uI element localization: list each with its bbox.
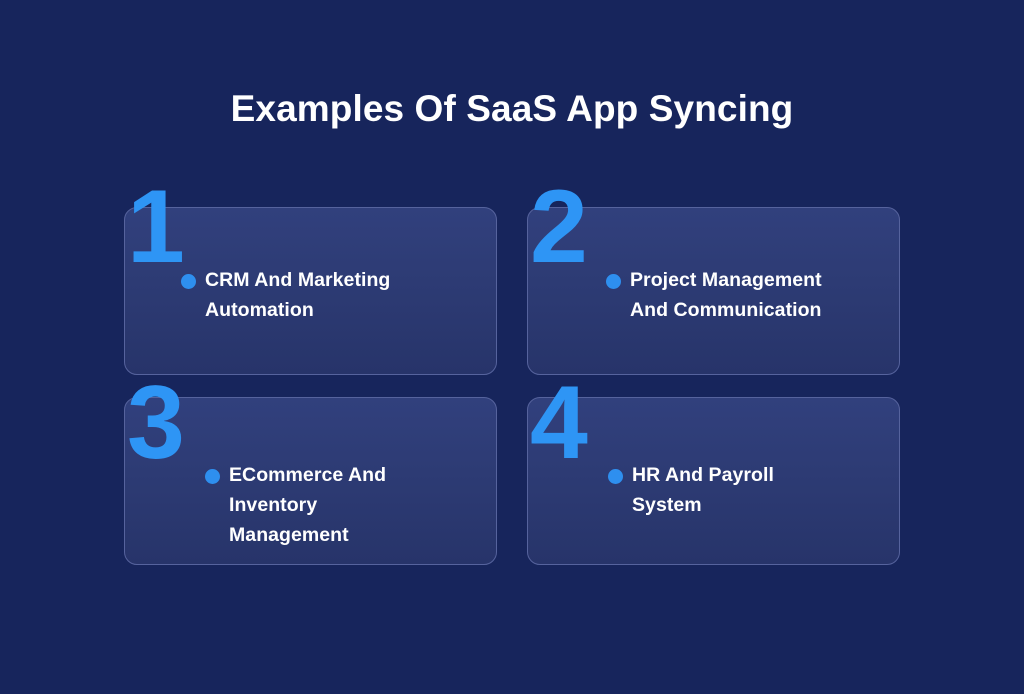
card-label-4: HR And Payroll System (632, 460, 882, 520)
bullet-dot-icon (181, 274, 196, 289)
card-label-1: CRM And Marketing Automation (205, 265, 480, 325)
list-item-card-2[interactable]: 2 Project Management And Communication (527, 207, 900, 375)
bullet-dot-icon (608, 469, 623, 484)
bullet-dot-icon (205, 469, 220, 484)
list-item-card-3[interactable]: 3 ECommerce And Inventory Management (124, 397, 497, 565)
page-title: Examples Of SaaS App Syncing (0, 86, 1024, 132)
card-number-3: 3 (127, 371, 183, 475)
card-label-3: ECommerce And Inventory Management (229, 460, 479, 550)
card-number-2: 2 (530, 175, 586, 279)
bullet-dot-icon (606, 274, 621, 289)
card-number-1: 1 (127, 175, 183, 279)
card-content: 3 ECommerce And Inventory Management (125, 398, 496, 564)
card-number-4: 4 (530, 371, 586, 475)
card-content: 1 CRM And Marketing Automation (125, 208, 496, 374)
list-item-card-1[interactable]: 1 CRM And Marketing Automation (124, 207, 497, 375)
card-grid: 1 CRM And Marketing Automation 2 Project… (124, 207, 900, 565)
list-item-card-4[interactable]: 4 HR And Payroll System (527, 397, 900, 565)
slide-root: Examples Of SaaS App Syncing 1 CRM And M… (0, 0, 1024, 694)
card-label-2: Project Management And Communication (630, 265, 898, 325)
card-content: 2 Project Management And Communication (528, 208, 899, 374)
card-content: 4 HR And Payroll System (528, 398, 899, 564)
